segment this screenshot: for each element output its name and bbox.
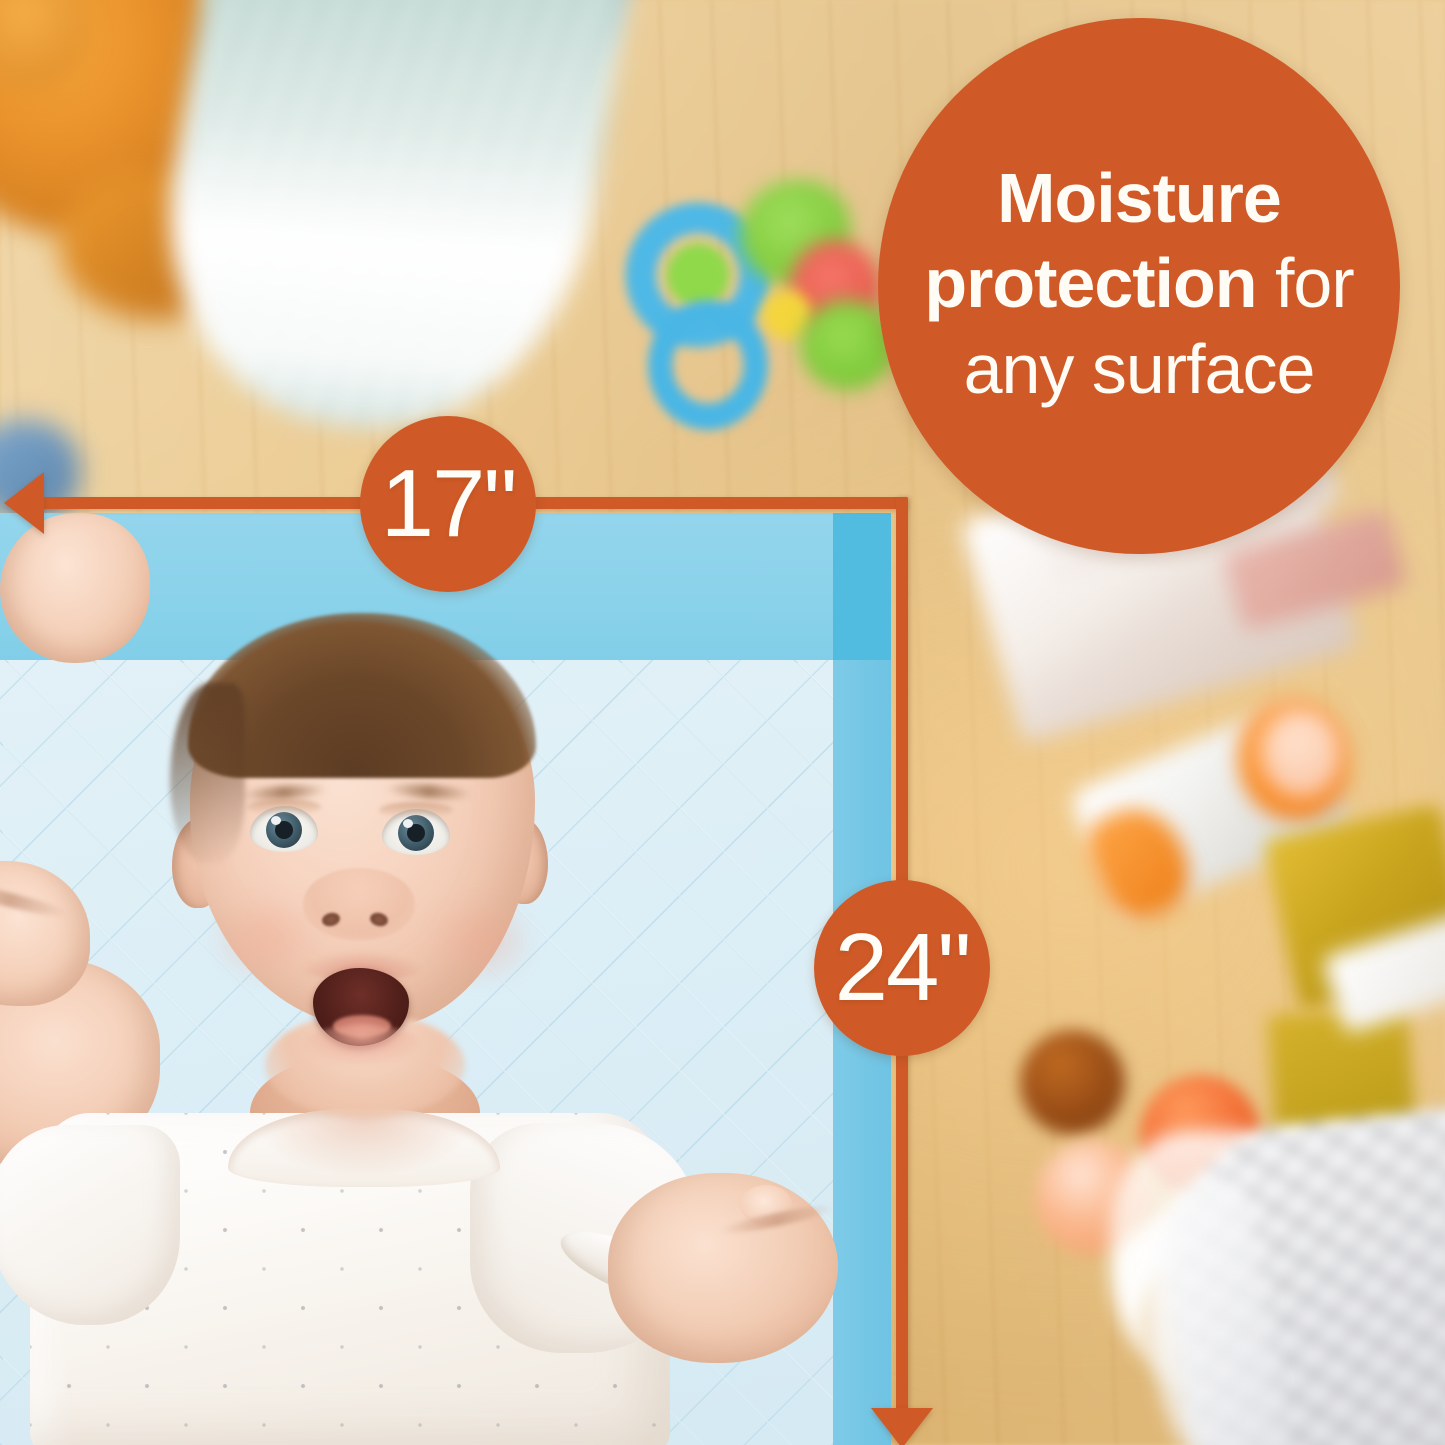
- height-measurement-badge: 24": [814, 880, 990, 1056]
- baby-right-arm: [608, 1173, 838, 1363]
- height-measurement-value: 24": [835, 920, 970, 1016]
- headline-badge: Moisture protection for any surface: [878, 18, 1400, 554]
- wooden-ball-dark-prop: [1020, 1030, 1125, 1135]
- baby-right-fist: [0, 513, 150, 663]
- bodysuit-left-sleeve: [0, 1125, 180, 1325]
- headline-line2-bold: protection: [924, 244, 1256, 322]
- baby-right-cheek: [425, 895, 535, 985]
- width-measurement-value: 17": [381, 456, 516, 552]
- blue-rattle-handle-prop: [648, 300, 768, 430]
- baby-hair-wisp: [170, 683, 245, 863]
- baby-subject: [0, 513, 891, 1445]
- baby-right-eye: [382, 809, 450, 855]
- width-measurement-badge: 17": [360, 416, 536, 592]
- baby-nose: [303, 868, 415, 940]
- headline-line3: any surface: [964, 330, 1315, 408]
- arrow-left-icon: [4, 472, 44, 534]
- eye-upper-lid: [379, 802, 453, 818]
- arrow-down-icon: [871, 1408, 933, 1445]
- baby-lower-lip: [303, 1025, 421, 1065]
- eye-highlight: [403, 819, 413, 828]
- baby-left-eye: [250, 806, 318, 852]
- lotion-bottle-cap-highlight-prop: [1262, 708, 1342, 798]
- headline-line2-rest: for: [1257, 244, 1354, 322]
- eye-highlight: [271, 816, 281, 825]
- headline-text: Moisture protection for any surface: [904, 156, 1374, 416]
- headline-line1: Moisture: [997, 159, 1281, 237]
- product-image-canvas: 17" 24" Moisture protection for any surf…: [0, 0, 1445, 1445]
- eye-upper-lid: [247, 799, 321, 815]
